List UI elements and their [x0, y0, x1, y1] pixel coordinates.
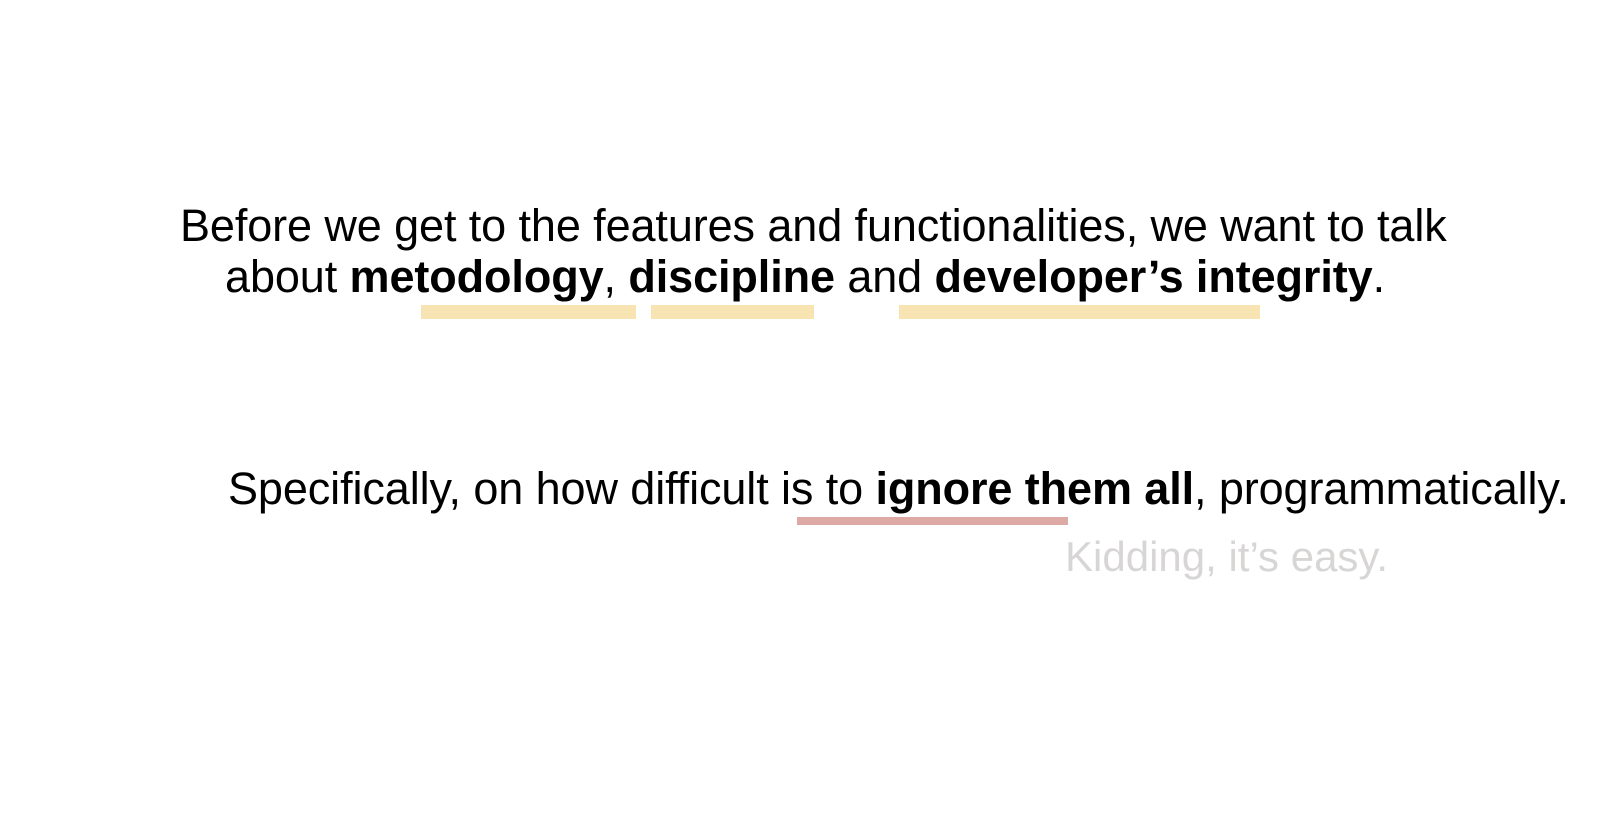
- highlight-bar-ignore-them-all: [797, 517, 1068, 525]
- paragraph-1-line-1-text: Before we get to the features and functi…: [180, 200, 1447, 251]
- highlight-bar-discipline: [651, 305, 814, 319]
- highlighted-term-developers-integrity: developer’s integrity: [935, 251, 1373, 302]
- aside-kidding-text: Kidding, it’s easy.: [1065, 533, 1388, 580]
- paragraph-1-prefix: about: [225, 251, 350, 302]
- paragraph-block-secondary: Specifically, on how difficult is to ign…: [228, 463, 1408, 514]
- paragraph-1-line-1: Before we get to the features and functi…: [180, 200, 1430, 251]
- highlighted-term-ignore-them-all: ignore them all: [875, 463, 1194, 514]
- paragraph-2-line-1: Specifically, on how difficult is to ign…: [228, 463, 1408, 514]
- paragraph-1-separator-2: and: [835, 251, 935, 302]
- paragraph-1-separator-1: ,: [604, 251, 629, 302]
- highlight-bar-metodology: [421, 305, 636, 319]
- slide-canvas: Before we get to the features and functi…: [0, 0, 1610, 814]
- highlighted-term-discipline: discipline: [628, 251, 835, 302]
- highlight-bar-developers-integrity: [899, 305, 1260, 319]
- paragraph-2-prefix: Specifically, on how difficult is to: [228, 463, 875, 514]
- paragraph-1-suffix: .: [1373, 251, 1385, 302]
- highlighted-term-metodology: metodology: [350, 251, 604, 302]
- paragraph-2-suffix: , programmatically.: [1194, 463, 1569, 514]
- paragraph-1-line-2: about metodology, discipline and develop…: [180, 251, 1430, 302]
- paragraph-block-primary: Before we get to the features and functi…: [180, 200, 1430, 302]
- aside-kidding-note: Kidding, it’s easy.: [228, 532, 1388, 582]
